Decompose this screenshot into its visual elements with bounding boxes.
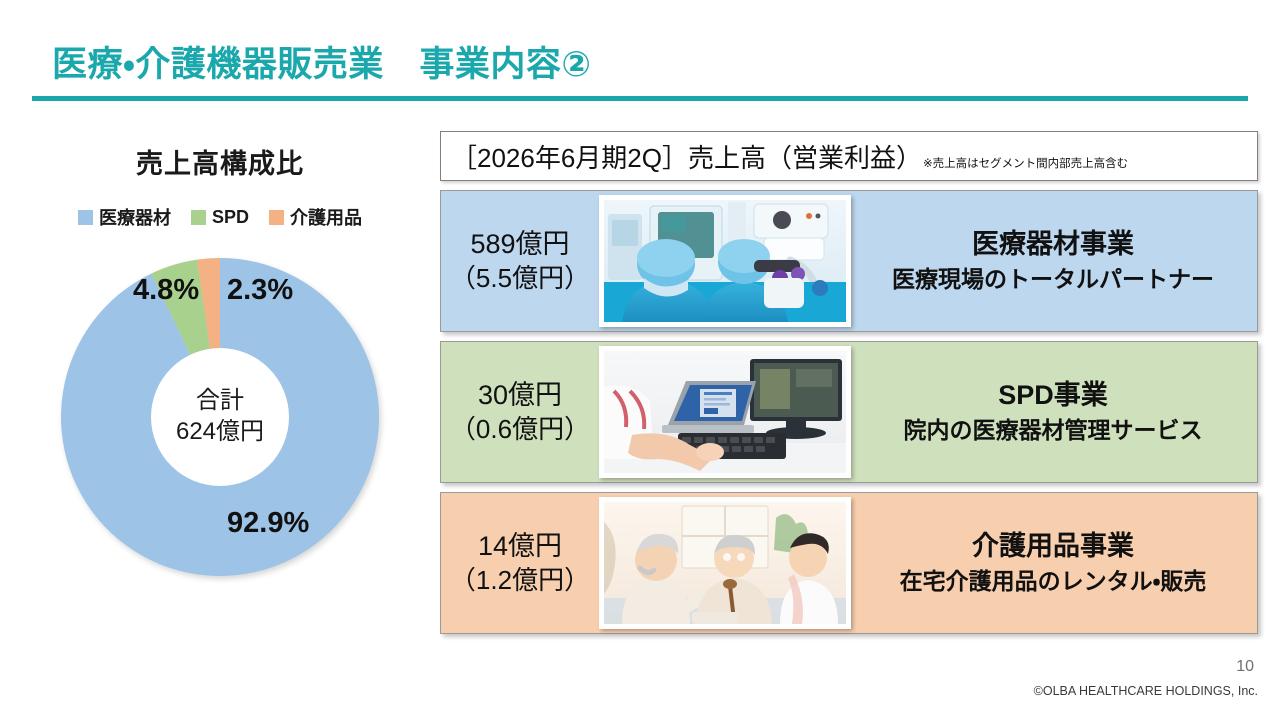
segment-amounts-medical-devices: 589億円 （5.5億円） — [441, 228, 599, 294]
segments-header: ［2026年6月期2Q］売上高（営業利益） ※売上高はセグメント間内部売上高含む — [440, 131, 1258, 181]
segments-header-note: ※売上高はセグメント間内部売上高含む — [923, 155, 1128, 180]
segment-description-nursing-care: 在宅介護用品のレンタル・販売 — [857, 566, 1249, 597]
segment-revenue-spd: 30億円 — [441, 379, 599, 413]
legend-label-spd: SPD — [212, 207, 249, 228]
page-title: 医療・介護機器販売業 事業内容② — [52, 36, 592, 87]
legend-swatch-spd — [191, 210, 206, 225]
segment-operating-profit-medical-devices: （5.5億円） — [441, 262, 599, 295]
nurse-computer-photo — [599, 346, 851, 478]
legend-item-spd: SPD — [191, 207, 249, 228]
page-number: 10 — [1236, 658, 1254, 676]
donut-chart-svg — [55, 252, 385, 582]
segments-panel: ［2026年6月期2Q］売上高（営業利益） ※売上高はセグメント間内部売上高含む… — [440, 131, 1258, 634]
surgery-photo-image — [604, 200, 846, 322]
slice-label-spd: 4.8% — [133, 274, 199, 307]
segment-row-spd[interactable]: 30億円 （0.6億円） — [440, 341, 1258, 483]
chart-title: 売上高構成比 — [20, 142, 420, 181]
segment-row-medical-devices[interactable]: 589億円 （5.5億円） — [440, 190, 1258, 332]
slice-label-nursing-care: 2.3% — [227, 274, 293, 307]
segment-description-spd: 院内の医療器材管理サービス — [857, 415, 1249, 446]
sales-composition-chart: 売上高構成比 医療器材 SPD 介護用品 合計 624億円 92.9% 4.8%… — [20, 130, 420, 630]
legend-item-medical-devices: 医療器材 — [78, 204, 171, 230]
segment-row-nursing-care[interactable]: 14億円 （1.2億円） — [440, 492, 1258, 634]
segment-text-nursing-care: 介護用品事業 在宅介護用品のレンタル・販売 — [851, 529, 1257, 597]
donut-chart: 合計 624億円 92.9% 4.8% 2.3% — [55, 252, 385, 582]
segment-name-medical-devices: 医療器材事業 — [857, 227, 1249, 262]
segment-text-medical-devices: 医療器材事業 医療現場のトータルパートナー — [851, 227, 1257, 295]
segment-operating-profit-spd: （0.6億円） — [441, 413, 599, 446]
segment-amounts-spd: 30億円 （0.6億円） — [441, 379, 599, 445]
legend-swatch-nursing-care — [269, 210, 284, 225]
donut-hole — [151, 348, 289, 486]
elderly-care-photo — [599, 497, 851, 629]
segment-text-spd: SPD事業 院内の医療器材管理サービス — [851, 378, 1257, 446]
segment-operating-profit-nursing-care: （1.2億円） — [441, 564, 599, 597]
copyright-notice: ©OLBA HEALTHCARE HOLDINGS, Inc. — [1034, 684, 1258, 698]
legend-swatch-medical-devices — [78, 210, 93, 225]
segment-name-spd: SPD事業 — [857, 378, 1249, 413]
surgery-photo — [599, 195, 851, 327]
legend-item-nursing-care: 介護用品 — [269, 204, 362, 230]
legend-label-medical-devices: 医療器材 — [99, 204, 171, 230]
segments-header-title: ［2026年6月期2Q］売上高（営業利益） — [451, 138, 922, 175]
segment-revenue-nursing-care: 14億円 — [441, 530, 599, 564]
legend-label-nursing-care: 介護用品 — [290, 204, 362, 230]
segment-revenue-medical-devices: 589億円 — [441, 228, 599, 262]
slice-label-medical-devices: 92.9% — [227, 507, 309, 540]
title-divider — [32, 96, 1248, 101]
segment-name-nursing-care: 介護用品事業 — [857, 529, 1249, 564]
segment-amounts-nursing-care: 14億円 （1.2億円） — [441, 530, 599, 596]
nurse-computer-photo-image — [604, 351, 846, 473]
chart-legend: 医療器材 SPD 介護用品 — [20, 204, 420, 230]
elderly-care-photo-image — [604, 502, 846, 624]
segment-description-medical-devices: 医療現場のトータルパートナー — [857, 264, 1249, 295]
